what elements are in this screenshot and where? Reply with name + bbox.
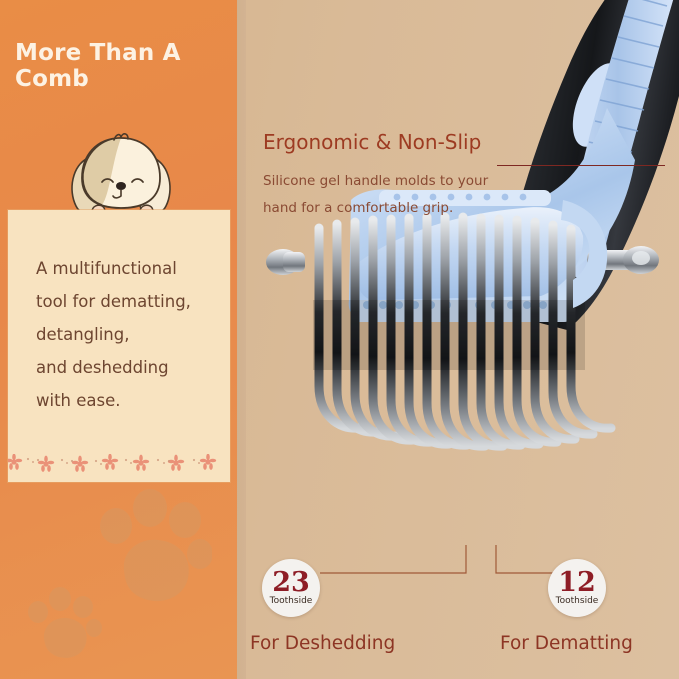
callout-body-line-2: hand for a comfortable grip. [263,195,513,222]
callout-leader-line [497,165,665,166]
callout-heading: Ergonomic & Non-Slip [263,130,481,154]
flower-paw-border-icon [8,454,230,482]
infographic-canvas: More Than A Comb [0,0,679,679]
dematting-comb-product-photo [255,0,679,580]
badge-sublabel: Toothside [270,596,313,606]
description-line-2: tool for dematting, [36,285,216,318]
description-line-1: A multifunctional [36,252,216,285]
page-title: More Than A Comb [15,40,245,92]
badge-number: 12 [558,570,596,596]
description-text: A multifunctional tool for dematting, de… [36,252,216,417]
caption-for-deshedding: For Deshedding [250,633,395,654]
description-line-4: and deshedding [36,351,216,384]
caption-for-dematting: For Dematting [500,633,633,654]
description-line-5: with ease. [36,384,216,417]
panel-seam-shadow [237,0,246,679]
dog-peeking-icon [62,132,180,222]
description-card: A multifunctional tool for dematting, de… [8,210,230,482]
badge-sublabel: Toothside [556,596,599,606]
paw-print-small [24,582,104,662]
screw-knob-left [266,249,305,275]
paw-print-large [92,486,212,606]
callout-body: Silicone gel handle molds to your hand f… [263,168,513,222]
badge-23-toothside: 23 Toothside [262,559,320,617]
badge-12-toothside: 12 Toothside [548,559,606,617]
badge-number: 23 [272,570,310,596]
callout-body-line-1: Silicone gel handle molds to your [263,168,513,195]
description-line-3: detangling, [36,318,216,351]
